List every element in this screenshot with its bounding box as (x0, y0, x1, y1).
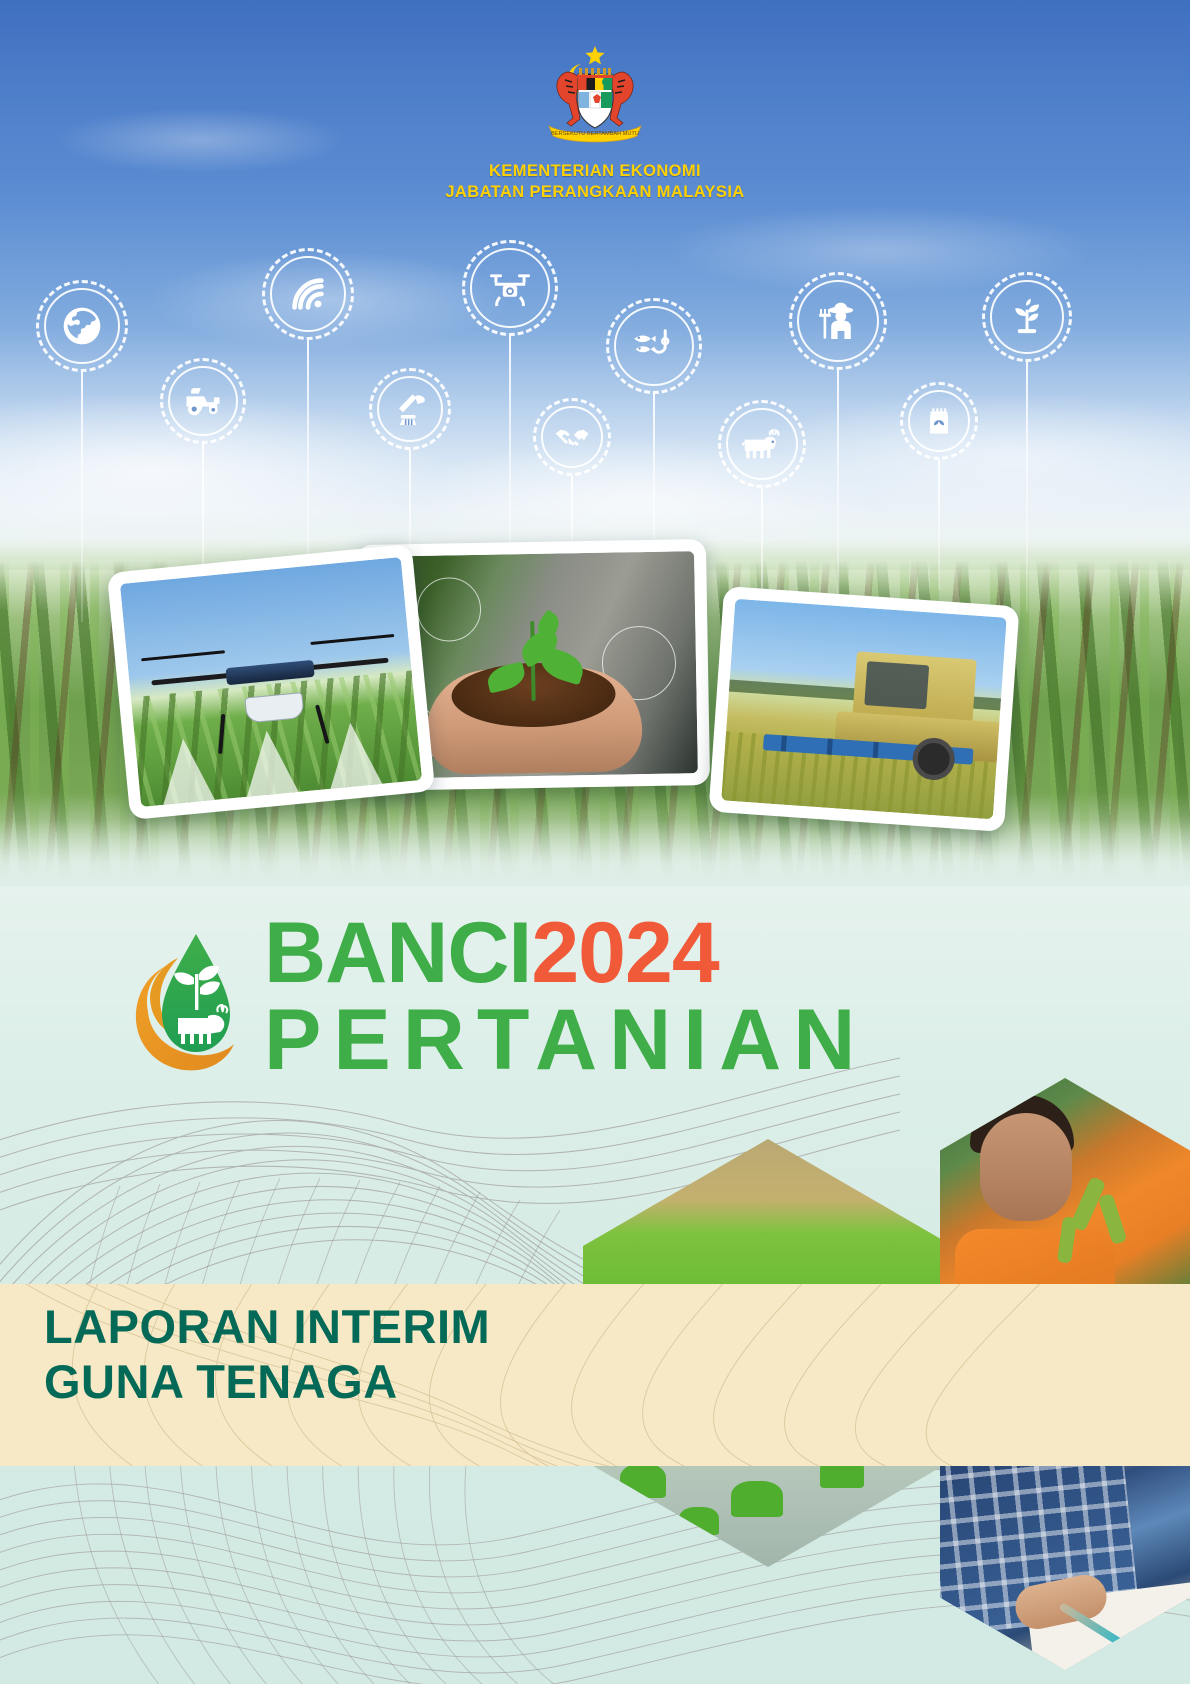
spray-cone (324, 720, 382, 789)
axe-icon (369, 368, 451, 450)
badge-sprout (982, 272, 1072, 362)
badge-farmer (789, 272, 887, 370)
brand-wordmark: BANCI2024 PERTANIAN (264, 912, 867, 1081)
brand-banci: BANCI (264, 905, 531, 1001)
combine-harvester-art (721, 599, 1006, 819)
badge-globe (36, 280, 128, 372)
farmer-icon (789, 272, 887, 370)
brand-line-1: BANCI2024 (264, 912, 867, 995)
badge-stem (1026, 362, 1028, 612)
report-title: LAPORAN INTERIM GUNA TENAGA (44, 1300, 664, 1409)
badge-stem (81, 372, 83, 622)
deco-circle (416, 577, 481, 642)
badge-cow (718, 400, 806, 488)
badge-drone (462, 240, 558, 336)
seedbag-icon (900, 382, 978, 460)
face (980, 1113, 1072, 1221)
drone-spraying-art (120, 557, 422, 807)
globe-icon (36, 280, 128, 372)
cow-icon (718, 400, 806, 488)
svg-text:BERSEKUTU BERTAMBAH MUTU: BERSEKUTU BERTAMBAH MUTU (551, 131, 639, 137)
report-title-line-2: GUNA TENAGA (44, 1355, 664, 1410)
badge-wifi (262, 248, 354, 340)
sprout-icon (982, 272, 1072, 362)
photo-inner (120, 557, 422, 807)
seedling-bundle (731, 1481, 783, 1517)
brand-year: 2024 (531, 905, 718, 1001)
badge-stem (837, 370, 839, 620)
spray-cone (241, 728, 299, 797)
tractor-icon (160, 358, 246, 444)
report-title-line-1: LAPORAN INTERIM (44, 1300, 664, 1355)
fishing-icon (606, 298, 702, 394)
reel-bar (781, 736, 787, 752)
ministry-names: KEMENTERIAN EKONOMI JABATAN PERANGKAAN M… (0, 161, 1190, 204)
propeller (141, 650, 225, 661)
brand-line-2: PERTANIAN (264, 999, 867, 1082)
propeller (310, 634, 394, 645)
spray-cone (157, 736, 215, 805)
photo-drone-spraying (107, 544, 435, 820)
badge-seedbag (900, 382, 978, 460)
badge-stem (938, 460, 940, 590)
wifi-icon (262, 248, 354, 340)
ministry-line-1: KEMENTERIAN EKONOMI (0, 161, 1190, 182)
ministry-line-2: JABATAN PERANGKAAN MALAYSIA (0, 182, 1190, 203)
reel-bar (827, 739, 833, 755)
reel-bar (873, 742, 879, 758)
banci-pertanian-logo (130, 926, 260, 1076)
badge-handshake (533, 398, 611, 476)
drone-icon (462, 240, 558, 336)
photo-inner (721, 599, 1006, 819)
cab-glass (864, 661, 929, 709)
cover-page: BERSEKUTU BERTAMBAH MUTU KEMENTERIAN EKO… (0, 0, 1190, 1684)
header-block: BERSEKUTU BERTAMBAH MUTU KEMENTERIAN EKO… (0, 42, 1190, 204)
badge-tractor (160, 358, 246, 444)
badge-fishing (606, 298, 702, 394)
badge-axe (369, 368, 451, 450)
malaysia-coat-of-arms-icon: BERSEKUTU BERTAMBAH MUTU (515, 42, 675, 150)
handshake-icon (533, 398, 611, 476)
photo-combine-harvester (708, 586, 1019, 832)
